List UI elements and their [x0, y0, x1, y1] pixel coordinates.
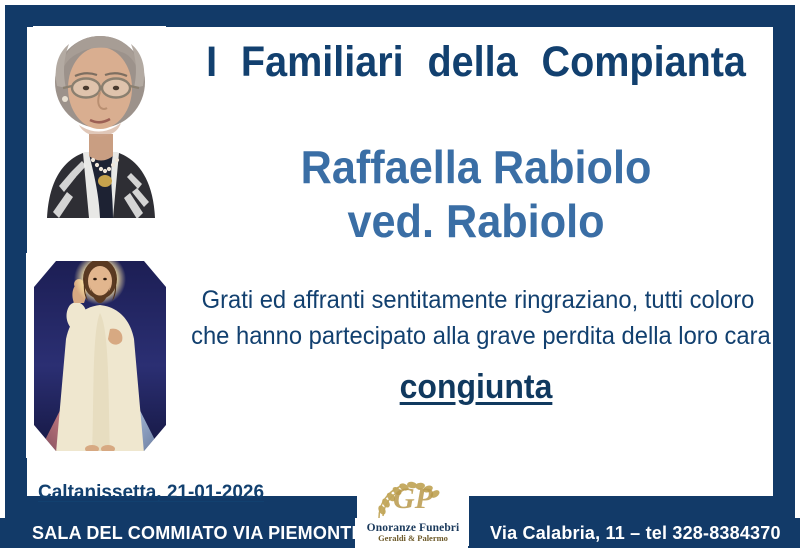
funeral-announcement-poster: I Familiari della Compianta Raffaella Ra… [0, 0, 800, 548]
funeral-agency-logo: GP Onoranze Funebri Geraldi & Palermo [357, 478, 469, 546]
logo-company-sub: Geraldi & Palermo [357, 534, 469, 543]
footer-contact-text: Via Calabria, 11 – tel 328-8384370 [490, 523, 781, 544]
portrait-photo [33, 26, 166, 218]
announcement-body-line2: che hanno partecipato alla grave perdita… [191, 319, 765, 355]
gp-monogram-wheat-icon: GP [357, 478, 469, 522]
dateline: Caltanissetta, 21-01-2026 [38, 482, 264, 504]
relation-word: congiunta [194, 368, 758, 407]
page-title: I Familiari della Compianta [200, 40, 752, 85]
divine-mercy-image [26, 253, 174, 458]
deceased-name-line1: Raffaella Rabiolo [301, 141, 652, 193]
deceased-name-line2: ved. Rabiolo [194, 194, 758, 248]
svg-text:GP: GP [393, 482, 434, 515]
footer-bar-left: SALA DEL COMMIATO VIA PIEMONTE, 16 [0, 518, 355, 548]
announcement-body: Grati ed affranti sentitamente ringrazia… [191, 283, 765, 354]
footer-venue-text: SALA DEL COMMIATO VIA PIEMONTE, 16 [32, 523, 355, 544]
announcement-body-line1: Grati ed affranti sentitamente ringrazia… [191, 283, 765, 319]
footer-bar-right: Via Calabria, 11 – tel 328-8384370 [468, 518, 800, 548]
deceased-name: Raffaella Rabiolo ved. Rabiolo [194, 140, 758, 249]
